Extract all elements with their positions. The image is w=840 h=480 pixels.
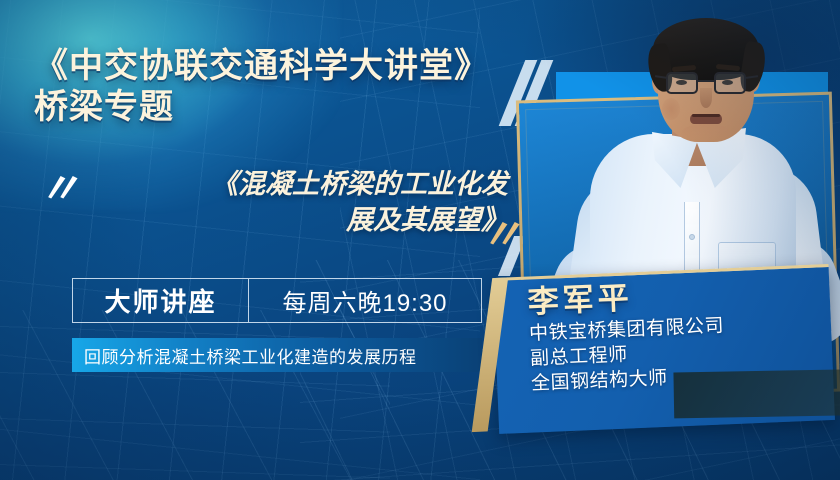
lecture-title-line-1: 《混凝土桥梁的工业化发: [34, 166, 534, 202]
title-line-2: 桥梁专题: [34, 87, 534, 128]
lecture-title-line-2: 展及其展望》: [34, 202, 534, 238]
speaker-name-plate: 李军平 中铁宝桥集团有限公司 副总工程师 全国钢结构大师: [493, 264, 835, 434]
quote-close-mark: 〃: [480, 214, 519, 256]
schedule-box: 大师讲座 每周六晚19:30: [72, 278, 482, 323]
tagline-bar: 回顾分析混凝土桥梁工业化建造的发展历程: [72, 338, 482, 372]
poster-title: 《中交协联交通科学大讲堂》 桥梁专题: [34, 46, 534, 129]
lecture-title-block: 〃 《混凝土桥梁的工业化发 展及其展望》 〃: [34, 166, 534, 266]
poster-canvas: 《中交协联交通科学大讲堂》 桥梁专题 〃 《混凝土桥梁的工业化发 展及其展望》 …: [0, 0, 840, 480]
speaker-details: 李军平 中铁宝桥集团有限公司 副总工程师 全国钢结构大师: [527, 272, 823, 396]
schedule-time: 每周六晚19:30: [249, 279, 481, 322]
title-line-1: 《中交协联交通科学大讲堂》: [34, 46, 534, 87]
schedule-label: 大师讲座: [73, 279, 249, 322]
quote-open-mark: 〃: [38, 168, 77, 210]
